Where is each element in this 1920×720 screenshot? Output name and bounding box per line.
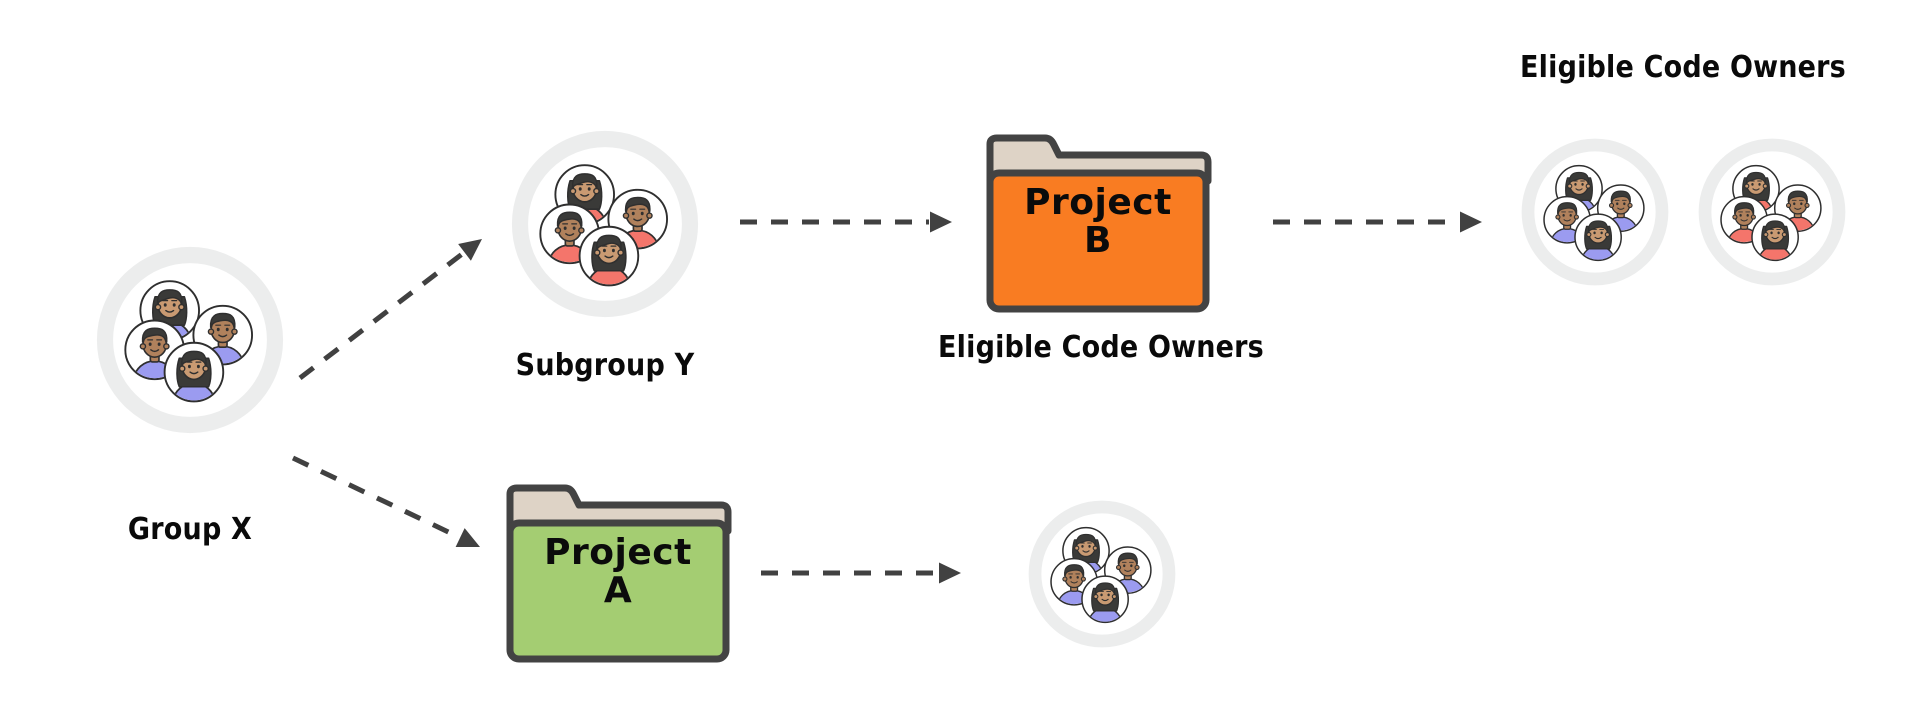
group-x [105,255,275,425]
owners-a-blue [1035,507,1169,641]
edge-projectb-to-owners [1273,212,1482,233]
owners-b-blue [1528,145,1662,279]
project-a-label-line1: Project [544,534,692,572]
edge-groupx-to-projecta [293,458,480,547]
avatar-icon [1752,214,1798,264]
subgroup-y-label: Subgroup Y [516,348,695,383]
project-b-label: ProjectB [1024,184,1172,260]
caption-owners-top: Eligible Code Owners [1520,50,1846,85]
project-b-label-line1: Project [1024,184,1172,222]
avatar-icon [580,227,639,291]
avatar-icon [1575,214,1621,264]
caption-owners-bottom: Eligible Code Owners [938,330,1264,365]
project-b-label-line2: B [1024,222,1172,260]
project-a-label-line2: A [544,572,692,610]
diagram-canvas: Group XSubgroup YProjectBProjectAEligibl… [0,0,1920,720]
edge-groupx-to-subgroupy [300,239,482,378]
edge-projecta-to-owners [761,563,961,584]
avatar-icon [1082,576,1128,626]
avatar-icon [165,343,224,407]
owners-b-red [1705,145,1839,279]
edge-subgroupy-to-projectb [740,212,952,233]
group-x-label: Group X [128,512,252,547]
subgroup-y [520,139,690,309]
project-a-label: ProjectA [544,534,692,610]
